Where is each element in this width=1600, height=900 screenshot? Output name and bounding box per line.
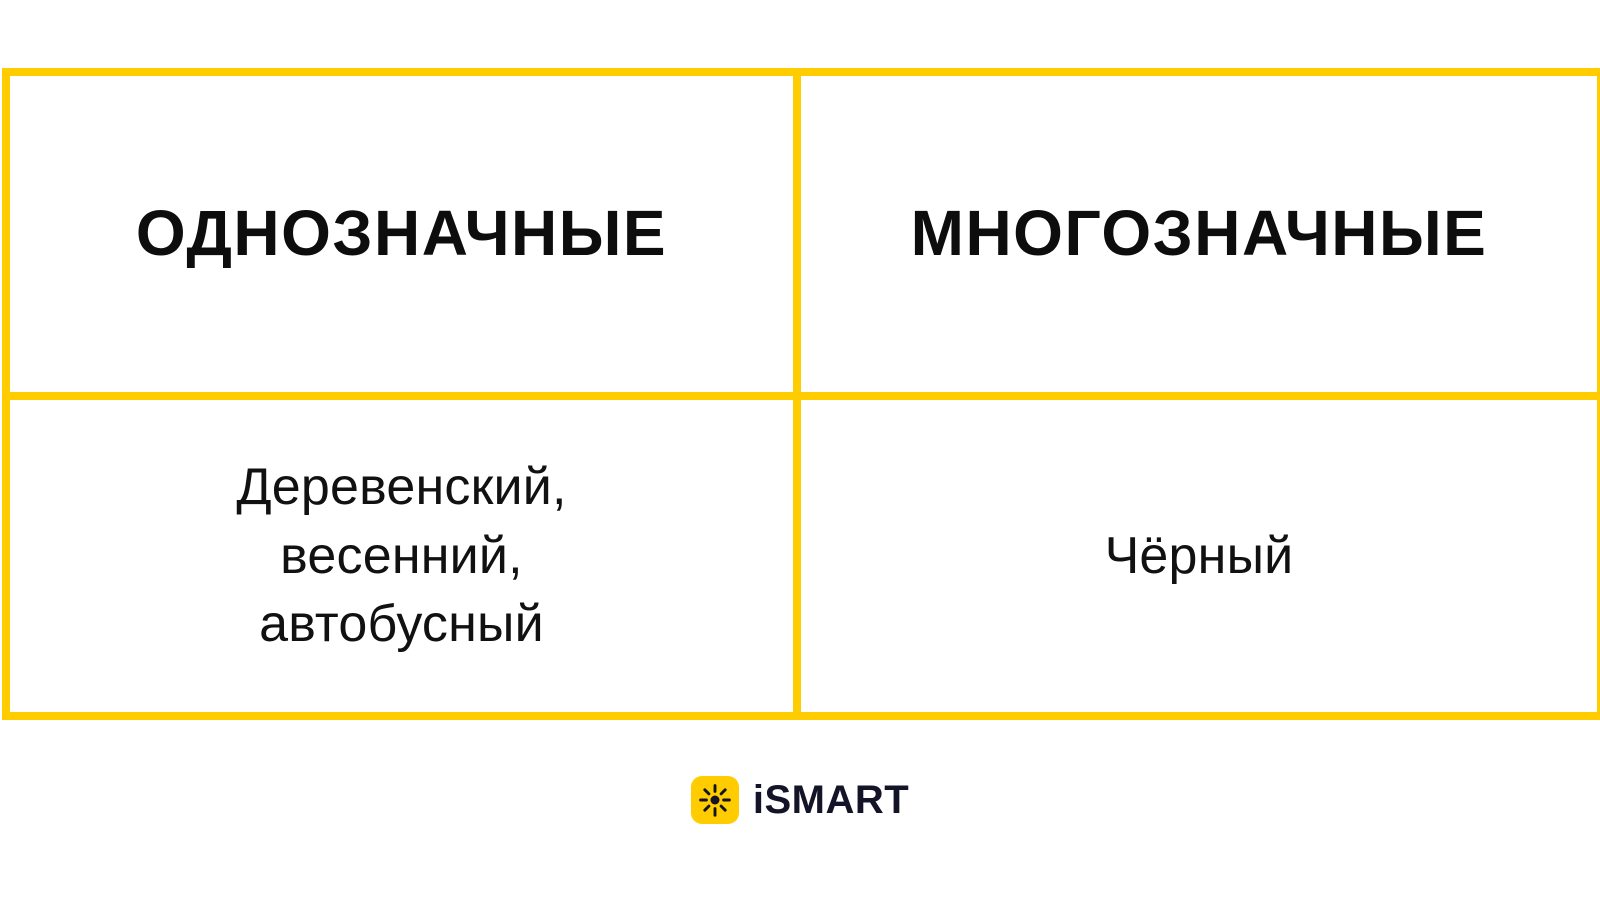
table-header-cell-multiple: МНОГОЗНАЧНЫЕ xyxy=(797,72,1600,396)
example-line: Деревенский, xyxy=(236,458,566,516)
table-cell-single-examples: Деревенский, весенний, автобусный xyxy=(6,396,797,716)
slide-canvas: ОДНОЗНАЧНЫЕ МНОГОЗНАЧНЫЕ Деревенский, ве… xyxy=(0,0,1600,900)
example-line: Чёрный xyxy=(1105,527,1294,585)
comparison-table: ОДНОЗНАЧНЫЕ МНОГОЗНАЧНЫЕ Деревенский, ве… xyxy=(2,68,1600,720)
table-header-row: ОДНОЗНАЧНЫЕ МНОГОЗНАЧНЫЕ xyxy=(6,72,1600,396)
example-line: автобусный xyxy=(259,595,544,653)
sun-icon xyxy=(698,783,732,817)
column-header-multiple: МНОГОЗНАЧНЫЕ xyxy=(819,200,1579,267)
table-cell-multiple-examples: Чёрный xyxy=(797,396,1600,716)
table-header-cell-single: ОДНОЗНАЧНЫЕ xyxy=(6,72,797,396)
ismart-wordmark: iSMART xyxy=(753,780,909,820)
column-header-single: ОДНОЗНАЧНЫЕ xyxy=(28,200,775,267)
examples-multiple: Чёрный xyxy=(819,522,1579,591)
examples-single: Деревенский, весенний, автобусный xyxy=(28,453,775,659)
ismart-logo-mark xyxy=(691,776,739,824)
comparison-table-wrapper: ОДНОЗНАЧНЫЕ МНОГОЗНАЧНЫЕ Деревенский, ве… xyxy=(2,68,1597,712)
table-row: Деревенский, весенний, автобусный Чёрный xyxy=(6,396,1600,716)
footer-logo: iSMART xyxy=(0,760,1600,840)
example-line: весенний, xyxy=(280,527,523,585)
